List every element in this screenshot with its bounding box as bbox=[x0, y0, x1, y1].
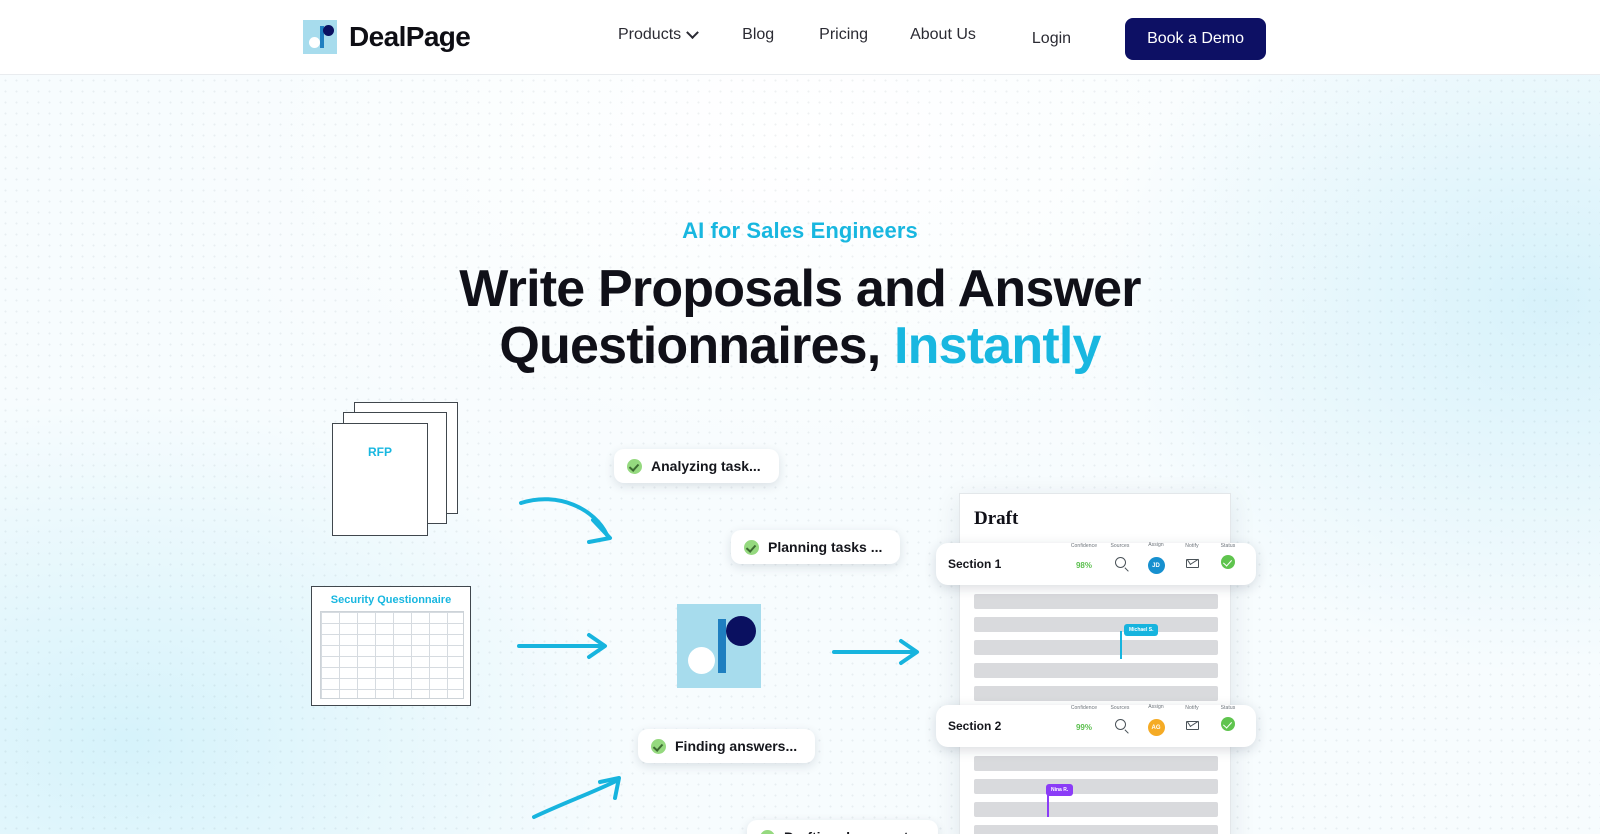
status-pill-analyzing: Analyzing task... bbox=[614, 449, 779, 483]
envelope-icon[interactable] bbox=[1186, 721, 1199, 730]
draft-placeholder-line bbox=[974, 640, 1218, 655]
section-name: Section 2 bbox=[948, 719, 1066, 733]
column-header-status: Status bbox=[1210, 705, 1246, 711]
arrow-curve-bottom bbox=[534, 781, 616, 817]
draft-content-lines-group-2 bbox=[974, 756, 1218, 834]
hero-section: AI for Sales Engineers Write Proposals a… bbox=[0, 75, 1600, 834]
column-header-sources: Sources bbox=[1102, 705, 1138, 711]
nav-item-products-label: Products bbox=[618, 26, 681, 44]
arrow-head-right bbox=[901, 641, 917, 663]
center-logo-white-circle-shape bbox=[688, 647, 715, 674]
status-pill-finding: Finding answers... bbox=[638, 729, 815, 763]
status-pill-label: Planning tasks ... bbox=[768, 539, 882, 555]
nav-item-about-us[interactable]: About Us bbox=[910, 26, 1004, 44]
nav-item-products[interactable]: Products bbox=[618, 26, 742, 44]
security-questionnaire-card: Security Questionnaire bbox=[311, 586, 471, 706]
column-header-status: Status bbox=[1210, 543, 1246, 549]
collab-cursor-caret-1 bbox=[1120, 631, 1122, 659]
draft-placeholder-line bbox=[974, 594, 1218, 609]
draft-placeholder-line bbox=[974, 663, 1218, 678]
check-circle-icon bbox=[651, 739, 666, 754]
login-link[interactable]: Login bbox=[1032, 30, 1071, 48]
column-header-notify: Notify bbox=[1174, 543, 1210, 549]
nav-item-pricing[interactable]: Pricing bbox=[819, 26, 910, 44]
nav-actions: Login Book a Demo bbox=[1032, 18, 1266, 60]
draft-placeholder-line bbox=[974, 756, 1218, 771]
section-name: Section 1 bbox=[948, 557, 1066, 571]
column-header-notify: Notify bbox=[1174, 705, 1210, 711]
rfp-label: RFP bbox=[332, 423, 428, 459]
status-cell: Status bbox=[1210, 555, 1246, 574]
sources-cell[interactable]: Sources bbox=[1102, 717, 1138, 735]
arrow-head-bottom bbox=[600, 778, 619, 798]
brand-logo[interactable]: DealPage bbox=[303, 20, 470, 54]
confidence-cell: Confidence 98% bbox=[1066, 555, 1102, 573]
draft-panel-title: Draft bbox=[960, 494, 1230, 530]
column-header-assign: Assign bbox=[1138, 704, 1174, 710]
status-pill-label: Drafting document... bbox=[784, 829, 920, 834]
draft-section-row-2[interactable]: Section 2 Confidence 99% Sources Assign … bbox=[936, 705, 1256, 747]
book-a-demo-button[interactable]: Book a Demo bbox=[1125, 18, 1266, 60]
status-cell: Status bbox=[1210, 717, 1246, 736]
center-logo-navy-circle-shape bbox=[726, 616, 756, 646]
notify-cell[interactable]: Notify bbox=[1174, 555, 1210, 573]
nav-links: Products Blog Pricing About Us bbox=[618, 26, 1004, 44]
logo-white-circle-shape bbox=[309, 37, 320, 48]
rfp-document-stack: RFP bbox=[332, 402, 458, 536]
draft-placeholder-line bbox=[974, 779, 1218, 794]
center-logo-bar-shape bbox=[718, 619, 726, 673]
status-pill-label: Finding answers... bbox=[675, 738, 797, 754]
check-circle-icon bbox=[760, 830, 775, 834]
assign-cell[interactable]: Assign JD bbox=[1138, 554, 1174, 575]
arrow-head-top bbox=[589, 520, 610, 542]
column-header-assign: Assign bbox=[1138, 542, 1174, 548]
confidence-value: 99% bbox=[1076, 723, 1092, 732]
dealpage-processing-logo-icon bbox=[677, 604, 761, 688]
search-icon[interactable] bbox=[1115, 557, 1126, 568]
confidence-value: 98% bbox=[1076, 561, 1092, 570]
column-header-confidence: Confidence bbox=[1066, 705, 1102, 711]
collab-cursor-label-2: Nina R. bbox=[1046, 784, 1073, 796]
logo-navy-circle-shape bbox=[323, 25, 334, 36]
draft-placeholder-line bbox=[974, 686, 1218, 701]
dealpage-logo-icon bbox=[303, 20, 337, 54]
chevron-down-icon bbox=[686, 26, 699, 39]
sources-cell[interactable]: Sources bbox=[1102, 555, 1138, 573]
column-header-confidence: Confidence bbox=[1066, 543, 1102, 549]
draft-placeholder-line bbox=[974, 802, 1218, 817]
draft-content-lines-group-1 bbox=[974, 594, 1218, 709]
brand-name: DealPage bbox=[349, 20, 470, 54]
check-circle-icon bbox=[744, 540, 759, 555]
questionnaire-grid bbox=[320, 611, 464, 699]
search-icon[interactable] bbox=[1115, 719, 1126, 730]
draft-placeholder-line bbox=[974, 617, 1218, 632]
draft-placeholder-line bbox=[974, 825, 1218, 834]
draft-section-row-1[interactable]: Section 1 Confidence 98% Sources Assign … bbox=[936, 543, 1256, 585]
security-questionnaire-label: Security Questionnaire bbox=[320, 594, 462, 606]
nav-item-blog[interactable]: Blog bbox=[742, 26, 819, 44]
envelope-icon[interactable] bbox=[1186, 559, 1199, 568]
collab-cursor-label-1: Michael S. bbox=[1124, 624, 1158, 636]
avatar[interactable]: AG bbox=[1148, 719, 1165, 736]
arrow-head-left bbox=[589, 635, 605, 657]
status-pill-drafting: Drafting document... bbox=[747, 820, 938, 834]
status-pill-label: Analyzing task... bbox=[651, 458, 761, 474]
assign-cell[interactable]: Assign AG bbox=[1138, 716, 1174, 737]
top-navigation-bar: DealPage Products Blog Pricing About Us … bbox=[0, 0, 1600, 75]
product-flow-diagram: RFP Security Questionnaire bbox=[0, 75, 1600, 834]
arrow-curve-top bbox=[521, 499, 607, 535]
confidence-cell: Confidence 99% bbox=[1066, 717, 1102, 735]
column-header-sources: Sources bbox=[1102, 543, 1138, 549]
status-badge bbox=[1221, 555, 1235, 569]
avatar[interactable]: JD bbox=[1148, 557, 1165, 574]
status-pill-planning: Planning tasks ... bbox=[731, 530, 900, 564]
flow-arrows bbox=[0, 75, 1600, 834]
status-badge bbox=[1221, 717, 1235, 731]
notify-cell[interactable]: Notify bbox=[1174, 717, 1210, 735]
check-circle-icon bbox=[627, 459, 642, 474]
